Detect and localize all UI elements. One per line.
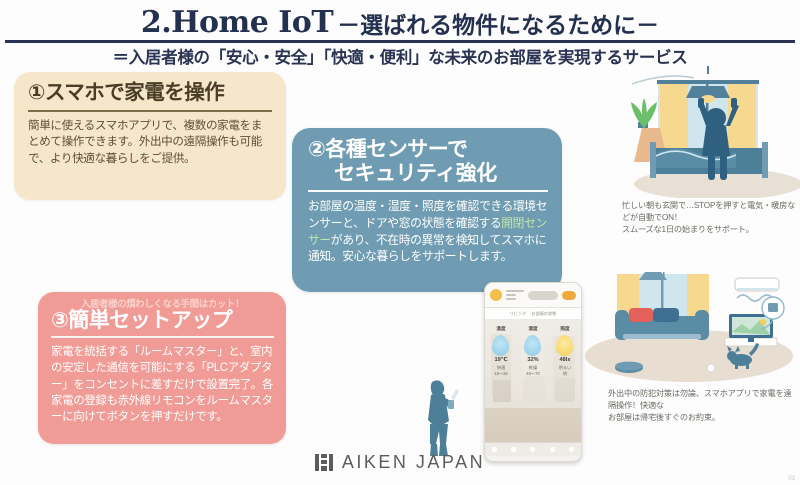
gauge-value: 48lx bbox=[560, 357, 571, 363]
feature-card-1: ①スマホで家電を操作 簡単に使えるスマホアプリで、複数の家電をまとめて操作できま… bbox=[14, 72, 286, 200]
feature-card-1-divider bbox=[28, 110, 272, 112]
sensor-gauge[interactable]: 湿度 32% 乾燥 40～70 bbox=[519, 326, 548, 442]
gauge-range: 明 bbox=[563, 371, 567, 377]
gauge-label: 湿度 bbox=[528, 326, 537, 332]
feature-card-1-body: 簡単に使えるスマホアプリで、複数の家電をまとめて操作できます。外出中の遠隔操作も… bbox=[28, 118, 272, 167]
app-header-line bbox=[506, 298, 516, 300]
app-header-line bbox=[506, 294, 516, 296]
temperature-drop-icon bbox=[492, 335, 509, 356]
feature-card-2: ②各種センサーで セキュリティ強化 お部屋の温度・湿度・照度を確認できる環境セン… bbox=[292, 128, 562, 292]
feature-card-2-divider bbox=[308, 190, 548, 192]
page-title: 2.Home IoT －選ばれる物件になるために－ bbox=[0, 2, 800, 38]
app-header-pill[interactable] bbox=[528, 291, 558, 300]
app-header-line bbox=[506, 290, 524, 292]
feature-card-3-title: ③簡単セットアップ bbox=[51, 309, 274, 333]
feature-card-3-body: 家電を統括する「ルームマスター」と、室内の安定した通信を可能にする「PLCアダプ… bbox=[51, 344, 274, 426]
building-bars-icon bbox=[315, 453, 334, 472]
sensor-gauge[interactable]: 温度 19℃ 快適 18～26 bbox=[487, 326, 516, 442]
feature-card-1-title: ①スマホで家電を操作 bbox=[28, 82, 272, 105]
feature-card-2-body: お部屋の温度・湿度・照度を確認できる環境センサーと、ドアや窓の状態を確認する開閉… bbox=[308, 198, 548, 265]
gauge-value: 19℃ bbox=[494, 357, 507, 363]
note-morning: 忙しい朝も玄関で…STOPを押すと電気・暖房などが自動でON！ スムーズな1日の… bbox=[622, 200, 800, 236]
person-with-phone-silhouette bbox=[418, 378, 460, 460]
footer-logo: AIKEN JAPAN bbox=[0, 452, 800, 473]
page-title-sub: －選ばれる物件になるために－ bbox=[337, 14, 659, 37]
sensor-gauges: 温度 19℃ 快適 18～26 湿度 32% 乾燥 40～70 照度 48lx bbox=[485, 320, 581, 442]
slide-header: 2.Home IoT －選ばれる物件になるために－ ＝入居者様の「安心・安全」「… bbox=[0, 0, 800, 72]
feature-card-2-title-line2: セキュリティ強化 bbox=[308, 162, 548, 186]
app-tabbar[interactable]: リビング お部屋の状態 bbox=[485, 308, 581, 320]
slide-root: 2.Home IoT －選ばれる物件になるために－ ＝入居者様の「安心・安全」「… bbox=[0, 0, 800, 485]
app-room-view: 温度 19℃ 快適 18～26 湿度 32% 乾燥 40～70 照度 48lx bbox=[485, 320, 581, 442]
gauge-range: 18～26 bbox=[494, 371, 508, 377]
gauge-value: 32% bbox=[527, 357, 538, 363]
title-divider bbox=[5, 40, 795, 43]
gauge-label: 照度 bbox=[560, 326, 569, 332]
feature-card-3-divider bbox=[51, 336, 274, 338]
feature-card-2-title-line1: ②各種センサーで bbox=[308, 138, 468, 161]
illuminance-bulb-icon bbox=[556, 335, 573, 356]
app-tab-room-status[interactable]: お部屋の状態 bbox=[531, 311, 556, 317]
bedroom-wakeup-illustration bbox=[630, 66, 800, 198]
gauge-label: 温度 bbox=[496, 326, 505, 332]
page-subtitle: ＝入居者様の「安心・安全」「快適・便利」な未来のお部屋を実現するサービス bbox=[0, 44, 800, 68]
logo-text: AIKEN JAPAN bbox=[342, 452, 485, 473]
app-avatar-icon bbox=[490, 289, 502, 301]
app-header-pill-active[interactable] bbox=[562, 291, 576, 300]
app-header-text bbox=[506, 290, 524, 300]
page-number: 03 bbox=[788, 476, 795, 482]
humidity-drop-icon bbox=[524, 335, 541, 356]
note-away: 外出中の防犯対策は勿論、スマホアプリで家電を遠隔操作！快適な お部屋は帰宅後すぐ… bbox=[608, 388, 796, 424]
feature-card-2-body-post: があり、不在時の異常を検知してスマホに通知。安心な暮らしをサポートします。 bbox=[308, 233, 546, 264]
app-header bbox=[485, 283, 581, 308]
smartphone-app-mockup[interactable]: リビング お部屋の状態 温度 19℃ 快適 18～26 bbox=[484, 282, 582, 462]
sensor-gauge[interactable]: 照度 48lx 明るい 明 bbox=[551, 326, 580, 442]
gauge-range: 40～70 bbox=[526, 371, 540, 377]
feature-card-2-title: ②各種センサーで セキュリティ強化 bbox=[308, 138, 548, 185]
page-title-main: 2.Home IoT bbox=[141, 8, 333, 38]
app-tab-living[interactable]: リビング bbox=[510, 311, 527, 317]
feature-card-3: 入居者様の煩わしくなる手間はカット！ ③簡単セットアップ 家電を統括する「ルーム… bbox=[38, 292, 286, 444]
feature-card-3-kicker: 入居者様の煩わしくなる手間はカット！ bbox=[51, 299, 274, 309]
living-room-illustration bbox=[585, 272, 800, 384]
